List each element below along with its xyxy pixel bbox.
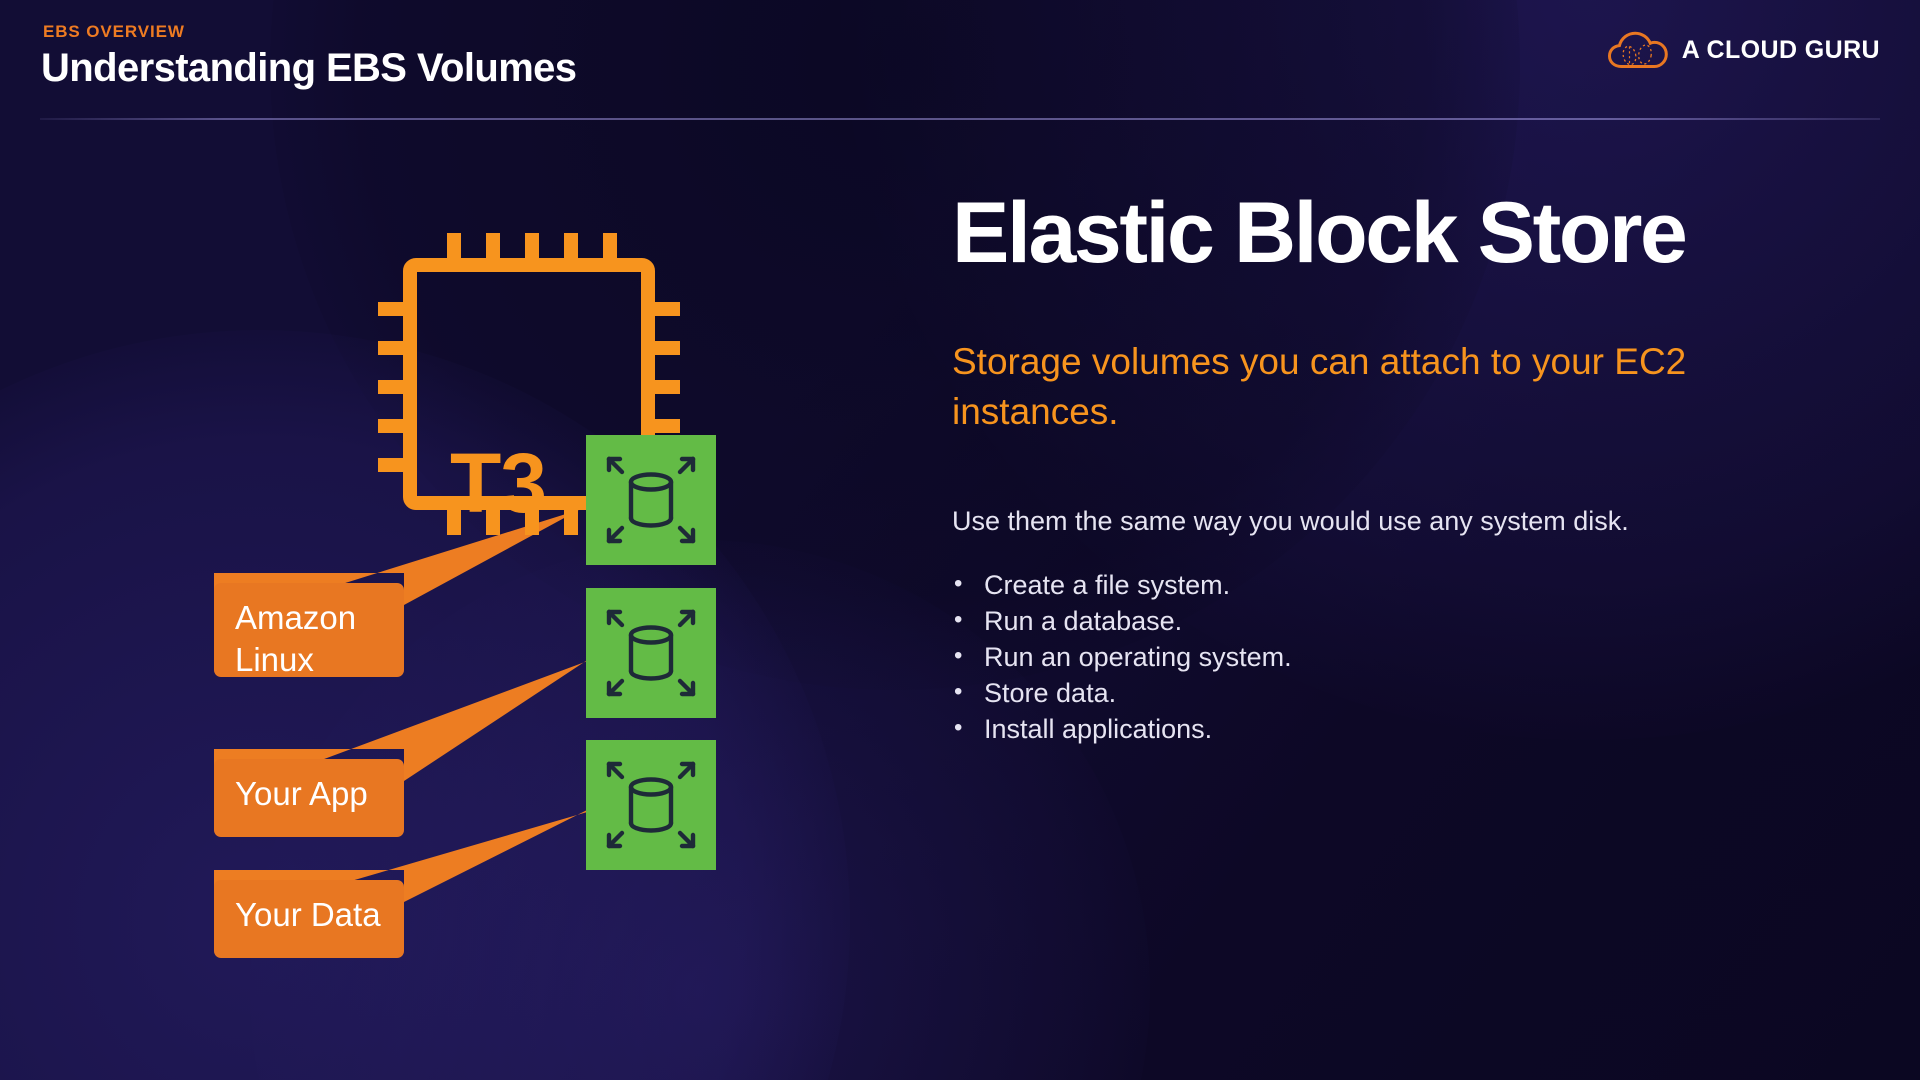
ebs-volume-icon bbox=[586, 740, 716, 870]
callout-your-app[interactable]: Your App bbox=[214, 759, 404, 837]
callout-line-2: Linux bbox=[235, 641, 314, 678]
logo-text: A CLOUD GURU bbox=[1682, 36, 1880, 65]
list-item: Run an operating system. bbox=[952, 639, 1882, 675]
ebs-volume-tile-1[interactable] bbox=[586, 435, 716, 565]
content-subhead: Storage volumes you can attach to your E… bbox=[952, 337, 1732, 437]
ebs-volume-tile-3[interactable] bbox=[586, 740, 716, 870]
list-item: Install applications. bbox=[952, 711, 1882, 747]
page-title: Understanding EBS Volumes bbox=[41, 46, 576, 91]
brand-logo: A CLOUD GURU bbox=[1607, 30, 1880, 70]
callout-line-1: Your App bbox=[235, 775, 368, 812]
header-eyebrow: EBS OVERVIEW bbox=[43, 22, 185, 42]
cloud-icon bbox=[1607, 30, 1669, 70]
list-item: Store data. bbox=[952, 675, 1882, 711]
callout-line-1: Your Data bbox=[235, 896, 381, 933]
ebs-diagram: T3 Amazon Linux Your App Your Data bbox=[0, 120, 900, 1080]
slide-header: EBS OVERVIEW Understanding EBS Volumes A… bbox=[0, 0, 1920, 120]
content-column: Elastic Block Store Storage volumes you … bbox=[952, 185, 1882, 747]
callout-amazon-linux[interactable]: Amazon Linux bbox=[214, 583, 404, 677]
ebs-volume-tile-2[interactable] bbox=[586, 588, 716, 718]
callout-line-1: Amazon bbox=[235, 599, 356, 636]
content-heading: Elastic Block Store bbox=[952, 185, 1882, 281]
callout-your-data[interactable]: Your Data bbox=[214, 880, 404, 958]
list-item: Run a database. bbox=[952, 603, 1882, 639]
content-bullet-list: Create a file system. Run a database. Ru… bbox=[952, 567, 1882, 747]
list-item: Create a file system. bbox=[952, 567, 1882, 603]
slide-canvas: EBS OVERVIEW Understanding EBS Volumes A… bbox=[0, 0, 1920, 1080]
header-divider bbox=[40, 118, 1880, 120]
cpu-chip-icon bbox=[0, 120, 900, 1080]
ebs-volume-icon bbox=[586, 588, 716, 718]
ebs-volume-icon bbox=[586, 435, 716, 565]
content-lead: Use them the same way you would use any … bbox=[952, 503, 1882, 539]
